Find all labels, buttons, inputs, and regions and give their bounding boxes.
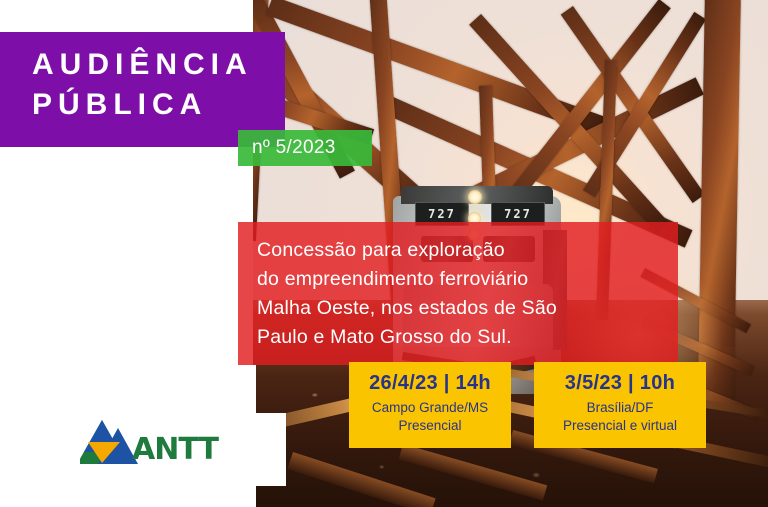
event-format: Presencial e virtual [534,418,706,433]
event-datetime: 26/4/23 | 14h [349,372,511,395]
headline-line-1: AUDIÊNCIA [32,49,253,81]
antt-triangle-mark-icon [80,418,140,470]
locomotive-headlight-top [468,190,482,204]
white-panel-step [256,413,286,486]
number-badge: nº 5/2023 [238,130,372,166]
locomotive-number-right: 727 [504,207,532,221]
event-place: Brasília/DF [534,400,706,415]
antt-logo: ANTT [80,418,220,470]
event-card-brasilia: 3/5/23 | 10h Brasília/DF Presencial e vi… [534,362,706,448]
headline-line-2: PÚBLICA [32,89,207,121]
description-line-4: Paulo e Mato Grosso do Sul. [257,326,512,349]
white-area-left-column [0,147,238,365]
antt-wordmark: ANTT [132,432,218,467]
description-line-2: do empreendimento ferroviário [257,268,528,291]
event-format: Presencial [349,418,511,433]
white-area-top-left [0,0,253,32]
locomotive-number-left: 727 [428,207,456,221]
event-card-campo-grande: 26/4/23 | 14h Campo Grande/MS Presencial [349,362,511,448]
description-line-1: Concessão para exploração [257,239,505,262]
event-datetime: 3/5/23 | 10h [534,372,706,395]
number-badge-label: nº 5/2023 [252,137,336,159]
description-block: Concessão para exploração do empreendime… [238,222,678,365]
audiencia-publica-poster: 727 727 AUDIÊNCIA PÚBLICA nº 5/2023 Conc… [0,0,768,507]
event-place: Campo Grande/MS [349,400,511,415]
description-line-3: Malha Oeste, nos estados de São [257,297,557,320]
